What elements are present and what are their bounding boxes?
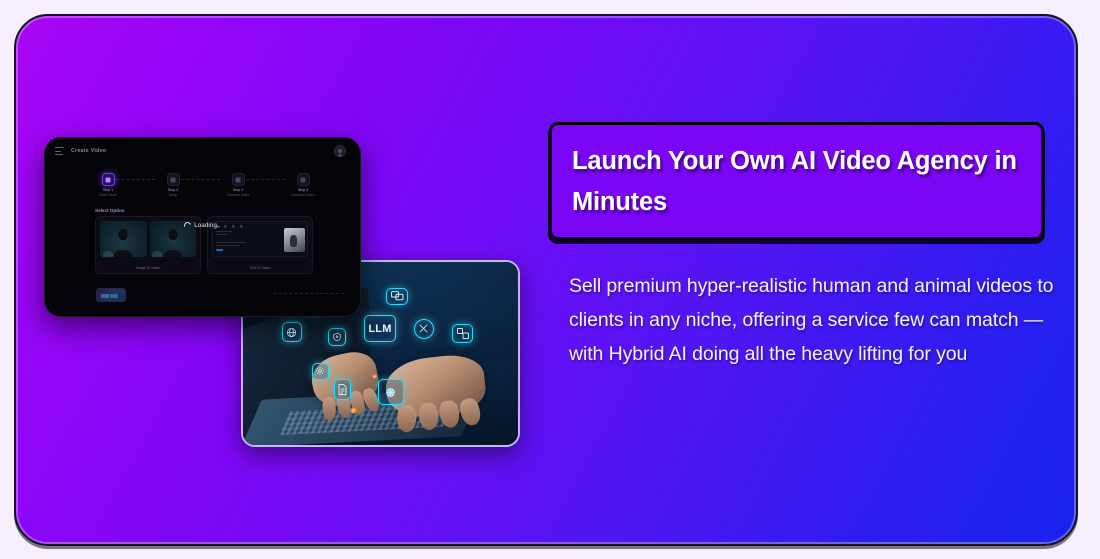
- option-card-text-to-video[interactable]: Text To Video: [207, 216, 313, 274]
- cyclist-photo-thumb: [284, 228, 305, 252]
- document-icon: [334, 379, 351, 400]
- app-title: Create Video: [71, 148, 106, 154]
- step-2-icon: [167, 173, 180, 186]
- step-3-label: Generate Video: [211, 193, 265, 198]
- gear-icon: [312, 363, 329, 380]
- user-avatar-icon[interactable]: [334, 145, 346, 157]
- portrait-thumbnail-b: [150, 221, 197, 257]
- divider-dashed: [274, 293, 344, 294]
- translate-icon: [452, 324, 473, 343]
- option-label-image-to-video: Image To Video: [96, 266, 200, 270]
- text-to-video-thumbnails: [212, 221, 308, 257]
- select-option-label: Select Option: [95, 208, 125, 213]
- step-1-label: Select Mode: [81, 193, 135, 198]
- body-copy: Sell premium hyper-realistic human and a…: [569, 269, 1069, 371]
- step-item-4[interactable]: Step 4 Download Video: [276, 173, 330, 198]
- headline-box: Launch Your Own AI Video Agency in Minut…: [549, 122, 1044, 240]
- step-indicator: Step 1 Select Mode Step 2 Setup Step 3 G…: [81, 173, 331, 203]
- portrait-thumbnail-a: [100, 221, 147, 257]
- ui-mockup-thumbnail: [212, 221, 308, 257]
- hamburger-menu-icon[interactable]: [55, 147, 64, 155]
- app-topbar: Create Video: [45, 138, 360, 164]
- step-3-icon: [232, 173, 245, 186]
- step-2-label: Setup: [146, 193, 200, 198]
- globe-icon: [282, 322, 302, 342]
- step-4-icon: [297, 173, 310, 186]
- step-1-icon: [102, 173, 115, 186]
- mock-toolbar-icons: [216, 225, 243, 228]
- step-item-1[interactable]: Step 1 Select Mode: [81, 173, 135, 198]
- page-title: Launch Your Own AI Video Agency in Minut…: [572, 141, 1021, 223]
- hero-card: Create Video Step 1 Select Mode Step 2 S…: [14, 14, 1078, 546]
- llm-label: LLM: [368, 323, 391, 335]
- brain-ai-icon: [378, 379, 404, 405]
- chat-bubbles-icon: [386, 288, 408, 305]
- option-label-text-to-video: Text To Video: [208, 266, 312, 270]
- glow-spark: [350, 407, 357, 414]
- llm-icon: LLM: [364, 315, 396, 342]
- step-item-2[interactable]: Step 2 Setup: [146, 173, 200, 198]
- app-screenshot-card: Create Video Step 1 Select Mode Step 2 S…: [44, 137, 361, 317]
- step-item-3[interactable]: Step 3 Generate Video: [211, 173, 265, 198]
- glow-spark: [372, 374, 377, 379]
- step-4-label: Download Video: [276, 193, 330, 198]
- shield-lock-icon: [328, 328, 346, 346]
- tools-icon: [414, 319, 434, 339]
- option-card-row: Image To Video Tex: [95, 216, 313, 274]
- option-card-image-to-video[interactable]: Image To Video: [95, 216, 201, 274]
- image-to-video-thumbnails: [100, 221, 196, 257]
- bottom-thumbnail-button[interactable]: [96, 288, 126, 302]
